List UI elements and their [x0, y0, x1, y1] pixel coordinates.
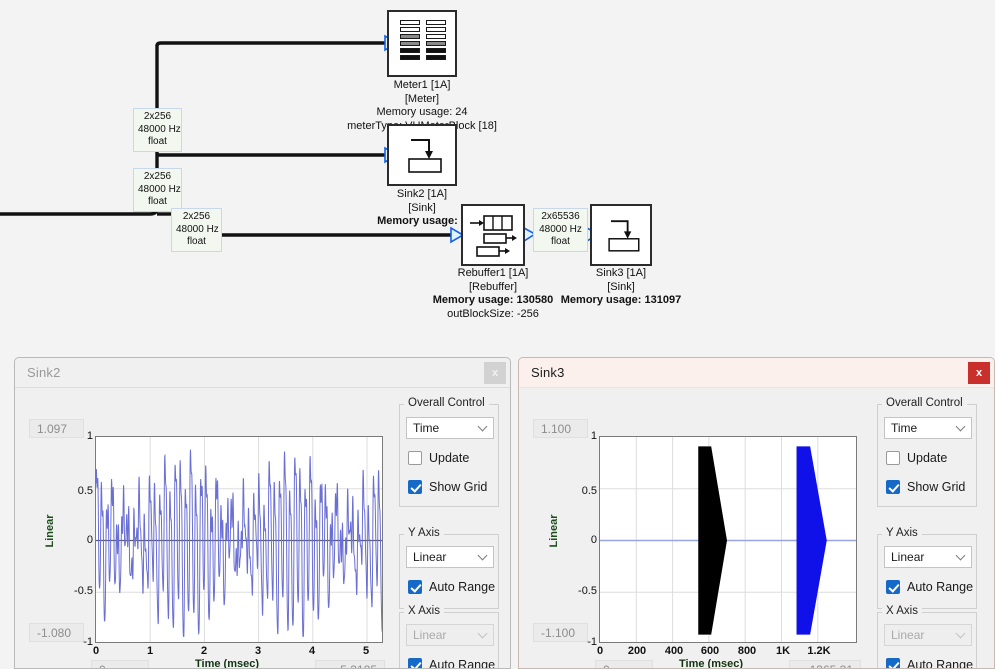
sink2-xtick: 2 [201, 645, 207, 657]
sink3-yaxis-autorange-label: Auto Range [907, 580, 973, 594]
checkbox-box [886, 580, 900, 594]
checkbox-box [886, 451, 900, 465]
sink2-overall-select-value: Time [413, 421, 439, 435]
chevron-down-icon [956, 422, 966, 432]
sink3-xtick: 1K [776, 645, 790, 657]
sink3-xaxis-title: X Axis [882, 605, 922, 617]
scope-window-sink3[interactable]: Sink3 x 1.100 -1.100 0 1365.31 Linear 1 … [518, 357, 995, 669]
block-sink3-caption: Sink3 [1A] [Sink] Memory usage: 131097 [511, 267, 731, 308]
sink2-yaxis-select[interactable]: Linear [406, 546, 494, 568]
sink2-xmin-readout: 0 [91, 660, 149, 669]
sink3-showgrid-checkbox[interactable]: Show Grid [886, 480, 965, 494]
sink2-ytick: -0.5 [65, 585, 93, 597]
sink3-xaxis-select: Linear [884, 624, 972, 646]
sink3-ytick: -0.5 [569, 585, 597, 597]
signal-label-rebuffer-out: 2x65536 48000 Hz float [533, 208, 588, 252]
chevron-down-icon [956, 629, 966, 639]
sink2-overall-control-title: Overall Control [404, 397, 489, 409]
signal-label-rebuffer-in: 2x256 48000 Hz float [171, 208, 222, 252]
block-sink2[interactable] [387, 124, 457, 186]
chevron-down-icon [956, 551, 966, 561]
sink2-xaxis-select-value: Linear [413, 628, 446, 642]
sink3-ytick: -1 [569, 636, 597, 648]
sink3-plot-area[interactable] [599, 436, 857, 643]
sink3-control-panel: Overall Control Time Update Show Grid [871, 388, 995, 669]
sink2-plot-area[interactable] [95, 436, 383, 643]
sink3-yaxis-group: Y Axis Linear Auto Range [877, 534, 977, 609]
sink3-xaxis-autorange-checkbox[interactable]: Auto Range [886, 658, 973, 669]
sink3-xmax-readout: 1365.31 [789, 660, 861, 669]
sink3-showgrid-label: Show Grid [907, 480, 965, 494]
sink3-x-axis-label: Time (msec) [679, 658, 743, 669]
sink3-yaxis-select[interactable]: Linear [884, 546, 972, 568]
sink2-yaxis-autorange-label: Auto Range [429, 580, 495, 594]
sink3-update-label: Update [907, 451, 947, 465]
sink3-close-button[interactable]: x [968, 362, 990, 384]
sink3-xtick: 0 [597, 645, 603, 657]
signal-label-meter: 2x256 48000 Hz float [133, 108, 182, 152]
sink2-yaxis-group: Y Axis Linear Auto Range [399, 534, 499, 609]
sink3-xaxis-group: X Axis Linear Auto Range [877, 612, 977, 669]
block-meter1[interactable] [387, 10, 457, 77]
signal-flow-diagram: Meter1 [1A] [Meter] Memory usage: 24 met… [0, 0, 995, 330]
chevron-down-icon [478, 551, 488, 561]
sink2-xaxis-autorange-label: Auto Range [429, 658, 495, 669]
sink2-ytick: 0.5 [65, 485, 93, 497]
sink3-titlebar[interactable]: Sink3 x [519, 358, 994, 388]
sink2-xaxis-autorange-checkbox[interactable]: Auto Range [408, 658, 495, 669]
sink2-xtick: 1 [147, 645, 153, 657]
sink2-xtick: 3 [255, 645, 261, 657]
chevron-down-icon [478, 629, 488, 639]
sink3-ytick: 1 [569, 430, 597, 442]
sink3-xtick: 200 [628, 645, 646, 657]
checkbox-box [408, 580, 422, 594]
sink2-showgrid-label: Show Grid [429, 480, 487, 494]
sink3-xaxis-select-value: Linear [891, 628, 924, 642]
sink3-yaxis-autorange-checkbox[interactable]: Auto Range [886, 580, 973, 594]
sink2-ytick: 1 [65, 430, 93, 442]
sink2-update-label: Update [429, 451, 469, 465]
checkbox-box [886, 658, 900, 669]
sink3-xtick: 800 [738, 645, 756, 657]
sink2-body: 1.097 -1.080 0 5.3125 Linear 1 0.5 0 -0.… [15, 388, 510, 668]
sink2-xaxis-title: X Axis [404, 605, 444, 617]
sink2-showgrid-checkbox[interactable]: Show Grid [408, 480, 487, 494]
sink2-xaxis-group: X Axis Linear Auto Range [399, 612, 499, 669]
sink-icon [397, 134, 451, 178]
sink3-ytick: 0.5 [569, 485, 597, 497]
sink2-yaxis-title: Y Axis [404, 527, 444, 539]
sink2-ytick: -1 [65, 636, 93, 648]
sink3-y-axis-label: Linear [548, 508, 560, 554]
rebuffer-icon [467, 212, 523, 262]
sink3-yaxis-select-value: Linear [891, 550, 924, 564]
sink3-xmin-readout: 0 [595, 660, 653, 669]
checkbox-box [408, 658, 422, 669]
sink2-close-button[interactable]: x [484, 362, 506, 384]
sink2-xaxis-select: Linear [406, 624, 494, 646]
checkbox-box [886, 480, 900, 494]
sink3-xtick: 400 [665, 645, 683, 657]
sink2-overall-control-group: Overall Control Time Update Show Grid [399, 404, 499, 507]
sink2-xmax-readout: 5.3125 [315, 660, 385, 669]
signal-label-sink2: 2x256 48000 Hz float [133, 168, 182, 212]
sink2-title: Sink2 [27, 365, 61, 380]
sink2-titlebar[interactable]: Sink2 x [15, 358, 510, 388]
sink3-overall-select-value: Time [891, 421, 917, 435]
sink3-body: 1.100 -1.100 0 1365.31 Linear 1 0.5 0 -0… [519, 388, 994, 668]
sink-icon [598, 214, 648, 258]
app-root: Meter1 [1A] [Meter] Memory usage: 24 met… [0, 0, 995, 669]
sink3-xtick: 600 [701, 645, 719, 657]
sink2-x-axis-label: Time (msec) [195, 658, 259, 669]
block-rebuffer1[interactable] [461, 204, 525, 266]
checkbox-box [408, 451, 422, 465]
sink3-yaxis-title: Y Axis [882, 527, 922, 539]
sink2-yaxis-autorange-checkbox[interactable]: Auto Range [408, 580, 495, 594]
sink3-overall-control-title: Overall Control [882, 397, 967, 409]
vu-meter-icon [400, 20, 446, 60]
sink2-overall-select[interactable]: Time [406, 417, 494, 439]
sink3-waveform [600, 437, 857, 643]
sink2-yaxis-select-value: Linear [413, 550, 446, 564]
sink2-waveform [96, 437, 383, 643]
sink2-xtick: 0 [93, 645, 99, 657]
scope-window-sink2[interactable]: Sink2 x 1.097 -1.080 0 5.3125 Linear 1 0… [14, 357, 511, 669]
sink2-ytick: 0 [65, 534, 93, 546]
sink3-xtick: 1.2K [807, 645, 830, 657]
sink3-ytick: 0 [569, 534, 597, 546]
sink2-y-axis-label: Linear [44, 508, 56, 554]
checkbox-box [408, 480, 422, 494]
sink3-update-checkbox[interactable]: Update [886, 451, 947, 465]
sink2-xtick: 5 [363, 645, 369, 657]
block-sink3[interactable] [590, 204, 652, 266]
chevron-down-icon [478, 422, 488, 432]
sink3-overall-select[interactable]: Time [884, 417, 972, 439]
sink3-xaxis-autorange-label: Auto Range [907, 658, 973, 669]
sink2-xtick: 4 [309, 645, 315, 657]
sink3-title: Sink3 [531, 365, 565, 380]
sink2-control-panel: Overall Control Time Update Show Grid [395, 388, 511, 669]
sink2-update-checkbox[interactable]: Update [408, 451, 469, 465]
sink3-overall-control-group: Overall Control Time Update Show Grid [877, 404, 977, 507]
